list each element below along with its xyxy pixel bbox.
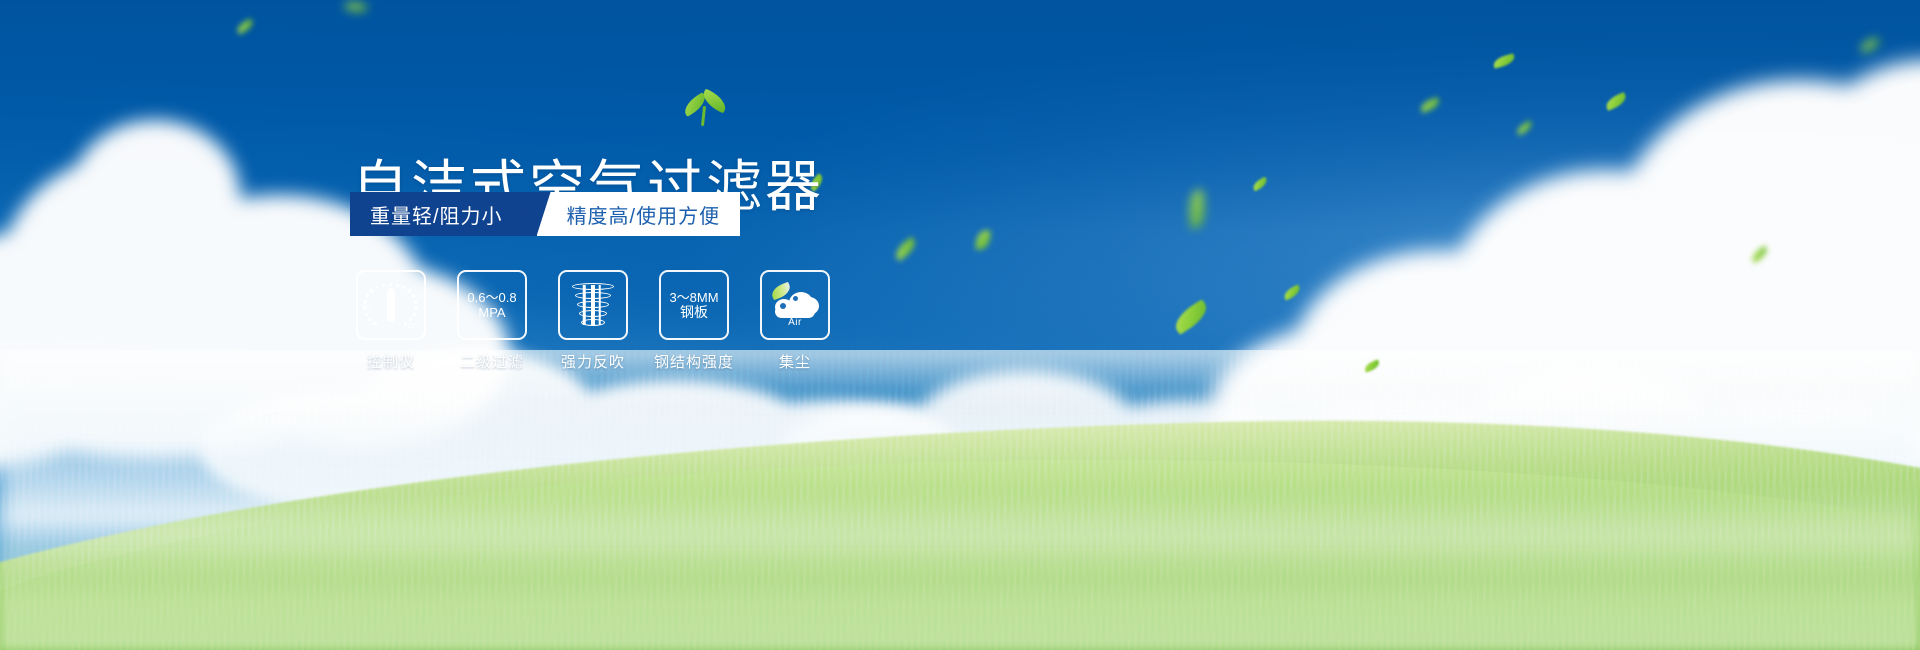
feature-caption: 钢结构强度 <box>654 351 734 372</box>
feature-icon-box: 0.6～0.8 MPA <box>457 270 527 340</box>
feature-list: NO OFF 控制仪 0.6～0.8 MPA 二级过滤 <box>356 270 830 372</box>
feature-item[interactable]: 3～8MM 钢板 钢结构强度 <box>659 270 729 372</box>
product-hero-banner: 自洁式空气过滤器 重量轻/阻力小 精度高/使用方便 <box>0 0 1920 650</box>
air-cloud-icon: Air <box>769 284 821 326</box>
feature-icon-box <box>558 270 628 340</box>
feature-caption: 控制仪 <box>367 351 415 372</box>
feature-item[interactable]: NO OFF 控制仪 <box>356 270 426 372</box>
gauge-icon: NO OFF <box>363 279 419 331</box>
tagline-right: 精度高/使用方便 <box>537 192 741 236</box>
gauge-label-no: NO <box>362 305 372 311</box>
banner-content: 自洁式空气过滤器 重量轻/阻力小 精度高/使用方便 <box>0 0 1920 650</box>
feature-item[interactable]: 强力反吹 <box>558 270 628 372</box>
tagline-left: 重量轻/阻力小 <box>350 192 537 236</box>
feature-caption: 二级过滤 <box>460 351 524 372</box>
coil-icon <box>570 281 616 329</box>
feature-icon-box: Air <box>760 270 830 340</box>
feature-text-line1: 3～8MM <box>669 290 718 305</box>
feature-item[interactable]: Air 集尘 <box>760 270 830 372</box>
banner-tagline: 重量轻/阻力小 精度高/使用方便 <box>350 192 740 236</box>
feature-icon-box: 3～8MM 钢板 <box>659 270 729 340</box>
feature-icon-box: NO OFF <box>356 270 426 340</box>
feature-text-line1: 0.6～0.8 <box>467 290 516 305</box>
feature-item[interactable]: 0.6～0.8 MPA 二级过滤 <box>457 270 527 372</box>
air-label: Air <box>769 317 821 328</box>
title-leaf-icon <box>682 92 728 126</box>
feature-caption: 集尘 <box>779 351 811 372</box>
gauge-label-off: OFF <box>408 324 421 330</box>
feature-text-line2: MPA <box>478 305 505 320</box>
feature-caption: 强力反吹 <box>561 351 625 372</box>
feature-text-line2: 钢板 <box>680 305 708 320</box>
